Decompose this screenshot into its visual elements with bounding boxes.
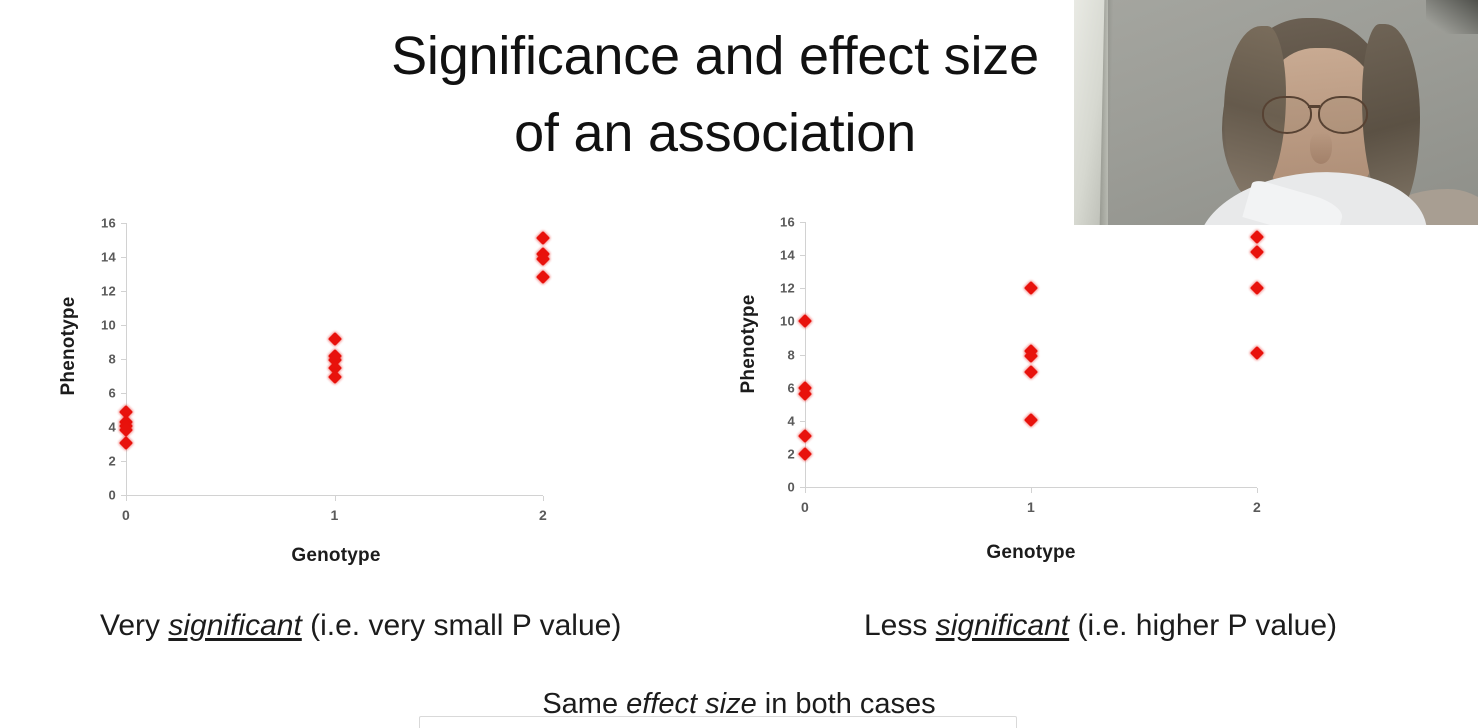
y-axis-tick-mark	[121, 291, 126, 292]
y-axis-tick-label: 8	[769, 347, 795, 362]
data-point	[1250, 281, 1264, 295]
y-axis-tick-label: 4	[769, 413, 795, 428]
x-axis-tick-mark	[805, 488, 806, 493]
y-axis-line	[126, 223, 127, 495]
bottom-content-box	[419, 716, 1017, 728]
data-point	[798, 447, 812, 461]
plot-area-left: 0246810121416012	[40, 205, 640, 575]
ceiling-shadow	[1426, 0, 1478, 34]
glasses-lens-left	[1262, 96, 1312, 134]
y-axis-tick-mark	[121, 223, 126, 224]
slide-canvas: Significance and effect size of an assoc…	[0, 0, 1478, 728]
y-axis-tick-mark	[800, 355, 805, 356]
presenter-video-overlay[interactable]	[1074, 0, 1478, 225]
y-axis-tick-mark	[800, 222, 805, 223]
y-axis-tick-label: 2	[90, 454, 116, 469]
x-axis-tick-label: 1	[1027, 499, 1035, 515]
caption-left-emphasis: significant	[168, 609, 301, 642]
x-axis-tick-label: 2	[1253, 499, 1261, 515]
presenter-nose	[1310, 132, 1332, 164]
scatter-chart-left: 0246810121416012 Phenotype Genotype	[40, 205, 640, 575]
y-axis-tick-label: 6	[769, 380, 795, 395]
data-point	[1250, 230, 1264, 244]
data-point	[119, 436, 133, 450]
y-axis-tick-label: 12	[769, 281, 795, 296]
data-point	[798, 429, 812, 443]
presenter-glasses	[1260, 96, 1384, 132]
y-axis-tick-label: 14	[769, 248, 795, 263]
y-axis-tick-label: 4	[90, 420, 116, 435]
data-point	[798, 314, 812, 328]
y-axis-tick-mark	[121, 325, 126, 326]
y-axis-tick-mark	[121, 359, 126, 360]
x-axis-tick-mark	[126, 496, 127, 501]
y-axis-tick-label: 16	[769, 215, 795, 230]
y-axis-tick-label: 12	[90, 284, 116, 299]
x-axis-tick-label: 0	[122, 507, 130, 523]
y-axis-title-left: Phenotype	[58, 291, 80, 401]
x-axis-tick-mark	[1257, 488, 1258, 493]
y-axis-tick-mark	[800, 421, 805, 422]
y-axis-tick-label: 0	[769, 480, 795, 495]
y-axis-title-right: Phenotype	[738, 289, 760, 399]
caption-left: Very significant (i.e. very small P valu…	[100, 609, 621, 643]
y-axis-tick-label: 0	[90, 488, 116, 503]
y-axis-tick-mark	[800, 255, 805, 256]
caption-right-suffix: (i.e. higher P value)	[1069, 609, 1337, 642]
data-point	[1024, 365, 1038, 379]
data-point	[536, 231, 550, 245]
caption-left-suffix: (i.e. very small P value)	[302, 609, 622, 642]
y-axis-tick-label: 8	[90, 352, 116, 367]
y-axis-tick-label: 14	[90, 250, 116, 265]
x-axis-tick-mark	[335, 496, 336, 501]
y-axis-tick-label: 10	[90, 318, 116, 333]
caption-right-prefix: Less	[864, 609, 936, 642]
y-axis-tick-label: 2	[769, 446, 795, 461]
data-point	[327, 370, 341, 384]
data-point	[327, 332, 341, 346]
y-axis-tick-label: 6	[90, 386, 116, 401]
scatter-chart-right: 0246810121416012 Phenotype Genotype	[720, 205, 1320, 575]
x-axis-title-left: Genotype	[226, 545, 446, 567]
data-point	[1024, 413, 1038, 427]
x-axis-tick-label: 0	[801, 499, 809, 515]
y-axis-tick-mark	[121, 257, 126, 258]
x-axis-tick-label: 2	[539, 507, 547, 523]
y-axis-tick-label: 10	[769, 314, 795, 329]
x-axis-tick-mark	[1031, 488, 1032, 493]
x-axis-tick-label: 1	[330, 507, 338, 523]
data-point	[536, 270, 550, 284]
y-axis-tick-mark	[800, 288, 805, 289]
caption-right-emphasis: significant	[936, 609, 1069, 642]
plot-area-right: 0246810121416012	[720, 205, 1320, 575]
y-axis-tick-mark	[121, 461, 126, 462]
caption-left-prefix: Very	[100, 609, 168, 642]
glasses-lens-right	[1318, 96, 1368, 134]
x-axis-title-right: Genotype	[921, 542, 1141, 564]
data-point	[1250, 245, 1264, 259]
x-axis-tick-mark	[543, 496, 544, 501]
y-axis-tick-label: 16	[90, 216, 116, 231]
data-point	[1024, 281, 1038, 295]
data-point	[1250, 346, 1264, 360]
y-axis-tick-mark	[121, 393, 126, 394]
caption-right: Less significant (i.e. higher P value)	[864, 609, 1337, 643]
